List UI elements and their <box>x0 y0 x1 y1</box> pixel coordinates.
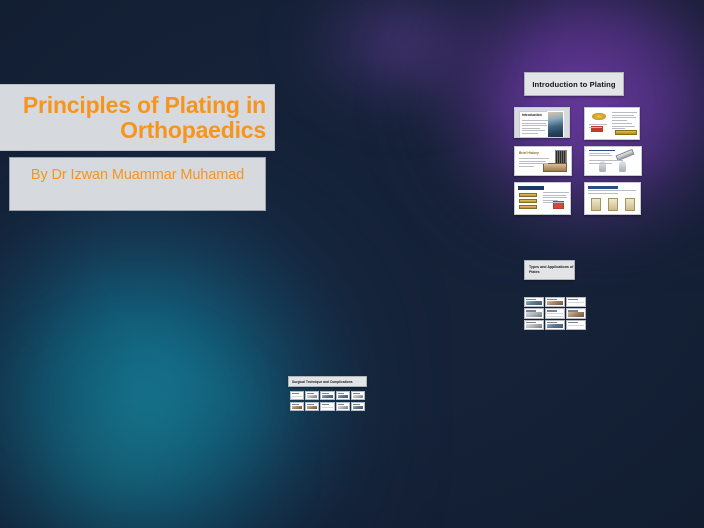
teal-glow-secondary <box>0 288 330 528</box>
slide-thumbnail-brief-history[interactable]: Brief History <box>514 146 572 176</box>
slide-thumbnail-mini[interactable] <box>336 391 350 400</box>
section-heading-surgical-technique[interactable]: Surgical Technique and Complications <box>288 376 367 387</box>
slide-graphic <box>592 113 606 120</box>
slide-header-bar <box>518 186 544 190</box>
slide-thumbnail-mini[interactable] <box>290 402 304 411</box>
slide-thumbnail-implants[interactable] <box>584 146 642 176</box>
slide-thumbnail-introduction[interactable]: Introduction <box>514 107 570 138</box>
section-heading-types-and-applications[interactable]: Types and Applications of Plates <box>524 260 575 280</box>
slide-thumbnail-mini[interactable] <box>305 402 319 411</box>
subtitle-card-frame[interactable]: By Dr Izwan Muammar Muhamad <box>9 157 266 211</box>
presentation-author: By Dr Izwan Muammar Muhamad <box>31 167 244 183</box>
slide-grid-types[interactable] <box>524 297 586 330</box>
slide-thumbnail-mini[interactable] <box>524 320 544 330</box>
slide-thumbnail-mini[interactable] <box>545 308 565 318</box>
presentation-canvas[interactable]: Principles of Plating in Orthopaedics By… <box>0 0 704 528</box>
slide-thumbnail-title: Brief History <box>519 151 539 155</box>
slide-thumbnail-mini[interactable] <box>305 391 319 400</box>
slide-thumbnail-title: Introduction <box>522 113 542 117</box>
purple-glow-secondary <box>254 0 554 150</box>
slide-portrait-photo <box>555 150 567 164</box>
slide-thumbnail-mini[interactable] <box>545 320 565 330</box>
slide-header-bar <box>588 186 618 189</box>
presentation-title: Principles of Plating in Orthopaedics <box>1 93 266 143</box>
slide-thumbnail-classification[interactable] <box>584 182 641 215</box>
slide-thumbnail-ao-plates[interactable] <box>514 182 571 215</box>
slide-plate-graphic <box>519 199 537 203</box>
slide-thumbnail-mini[interactable] <box>545 297 565 307</box>
slide-plate-graphic <box>519 193 537 197</box>
slide-thumbnail-mini[interactable] <box>320 402 334 411</box>
slide-thumbnail-mini[interactable] <box>351 391 365 400</box>
slide-thumbnail-mini[interactable] <box>351 402 365 411</box>
slide-figure <box>608 198 618 211</box>
slide-thumbnail-mini[interactable] <box>524 308 544 318</box>
slide-thumbnail-mini[interactable] <box>290 391 304 400</box>
slide-photo <box>547 111 564 138</box>
slide-thumbnail-mini[interactable] <box>336 402 350 411</box>
slide-thumbnail-mini[interactable] <box>524 297 544 307</box>
section-heading-introduction[interactable]: Introduction to Plating <box>524 72 624 96</box>
slide-thumbnail-gold-diagram[interactable] <box>584 107 640 140</box>
slide-thumbnail-mini[interactable] <box>566 308 586 318</box>
slide-thumbnail-mini[interactable] <box>566 297 586 307</box>
title-card-frame[interactable]: Principles of Plating in Orthopaedics <box>0 84 275 151</box>
slide-grid-surgical[interactable] <box>290 391 365 411</box>
slide-thumbnail-mini[interactable] <box>566 320 586 330</box>
slide-thumbnail-mini[interactable] <box>320 391 334 400</box>
slide-plate-graphic <box>519 205 537 209</box>
slide-figure <box>625 198 635 211</box>
slide-figure <box>591 198 601 211</box>
